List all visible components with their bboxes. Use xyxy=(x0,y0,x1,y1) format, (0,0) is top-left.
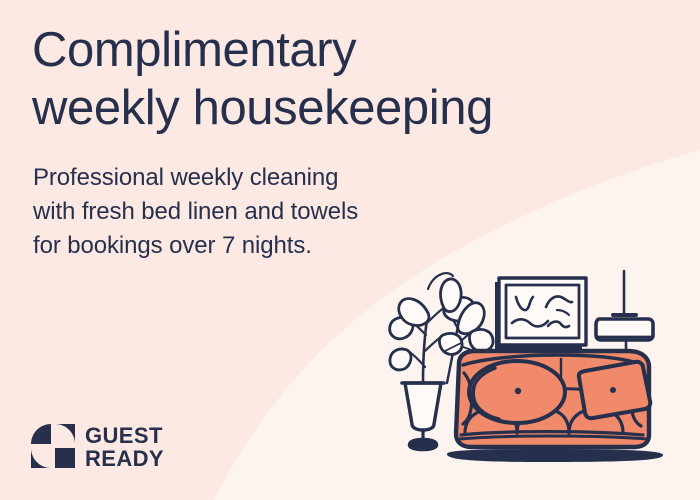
logo-line-2: READY xyxy=(85,447,164,470)
guestready-logo-mark xyxy=(31,424,75,470)
guestready-logo-text: GUEST READY xyxy=(85,424,164,470)
description-text: Professional weekly cleaning with fresh … xyxy=(33,161,453,263)
guestready-logo: GUEST READY xyxy=(31,424,164,470)
framed-artwork-icon xyxy=(495,278,586,349)
pendant-lamp-icon xyxy=(596,271,653,358)
living-room-illustration xyxy=(385,255,700,500)
promo-banner: Complimentary weekly housekeeping Profes… xyxy=(0,0,700,500)
round-cushion-icon xyxy=(469,361,565,423)
page-title: Complimentary weekly housekeeping xyxy=(32,21,632,137)
square-cushion-icon xyxy=(579,362,650,419)
logo-line-1: GUEST xyxy=(85,424,164,447)
